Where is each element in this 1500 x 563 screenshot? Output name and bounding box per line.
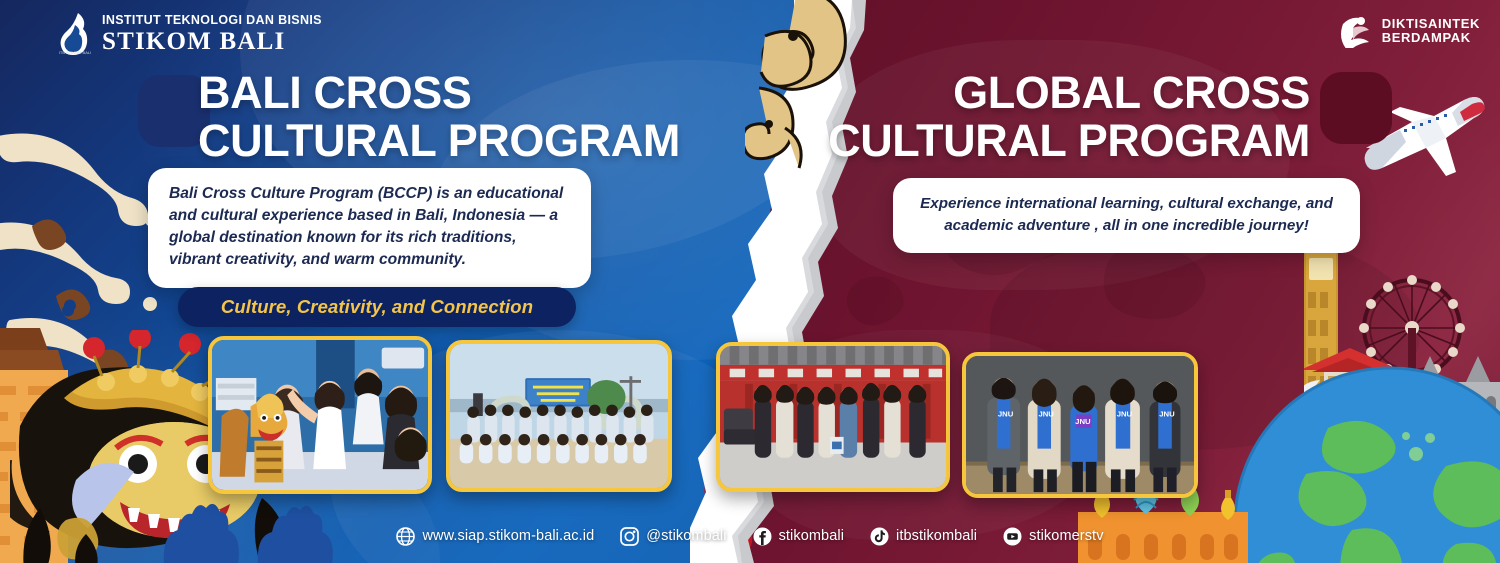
svg-text:JNU: JNU	[998, 410, 1014, 419]
stikom-bali-logo: ITB STIKOM BALI INSTITUT TEKNOLOGI DAN B…	[58, 12, 322, 56]
youtube-icon	[1003, 527, 1022, 546]
dikti-line2: BERDAMPAK	[1382, 31, 1480, 45]
social-links-bar: www.siap.stikom-bali.ac.id @stikombali s…	[0, 519, 1500, 553]
right-description-card: Experience international learning, cultu…	[893, 178, 1360, 253]
photo-beach-group	[446, 340, 672, 492]
left-headline: BALI CROSS CULTURAL PROGRAM	[198, 70, 680, 163]
right-headline-accent-dot	[1320, 72, 1392, 144]
svg-text:JNU: JNU	[1075, 417, 1091, 426]
svg-text:JNU: JNU	[1117, 410, 1133, 419]
left-description-card: Bali Cross Culture Program (BCCP) is an …	[148, 168, 591, 288]
social-item-youtube[interactable]: stikomerstv	[1003, 527, 1103, 546]
website-label: www.siap.stikom-bali.ac.id	[422, 528, 594, 544]
right-headline-line2: CULTURAL PROGRAM	[828, 118, 1310, 163]
right-headline: GLOBAL CROSS CULTURAL PROGRAM	[828, 70, 1310, 163]
diktisaintek-logo: DIKTISAINTEK BERDAMPAK	[1339, 14, 1480, 48]
flame-emblem-icon: ITB STIKOM BALI	[58, 12, 92, 56]
photo-jnu-students: JNUJNU JNUJNUJNU	[962, 352, 1198, 498]
globe-www-icon	[396, 527, 415, 546]
facebook-label: stikombali	[779, 528, 844, 544]
photo-barong-dance-class	[208, 336, 432, 494]
social-item-instagram[interactable]: @stikombali	[620, 527, 726, 546]
youtube-label: stikomerstv	[1029, 528, 1103, 544]
dikti-line1: DIKTISAINTEK	[1382, 17, 1480, 31]
tiktok-icon	[870, 527, 889, 546]
social-item-facebook[interactable]: stikombali	[753, 527, 844, 546]
svg-text:JNU: JNU	[1038, 410, 1054, 419]
institute-name-line1: INSTITUT TEKNOLOGI DAN BISNIS	[102, 14, 322, 27]
right-headline-line1: GLOBAL CROSS	[953, 67, 1310, 118]
instagram-icon	[620, 527, 639, 546]
instagram-label: @stikombali	[646, 528, 726, 544]
institute-name-line2: STIKOM BALI	[102, 29, 322, 54]
left-headline-line1: BALI CROSS	[198, 67, 472, 118]
left-headline-line2: CULTURAL PROGRAM	[198, 118, 680, 163]
promotional-banner: ITB STIKOM BALI INSTITUT TEKNOLOGI DAN B…	[0, 0, 1500, 563]
svg-text:JNU: JNU	[1159, 410, 1175, 419]
svg-text:ITB STIKOM BALI: ITB STIKOM BALI	[59, 50, 91, 55]
photo-temple-visit-group	[716, 342, 950, 492]
left-tagline-pill: Culture, Creativity, and Connection	[178, 287, 576, 327]
tiktok-label: itbstikombali	[896, 528, 977, 544]
diktisaintek-swoosh-icon	[1339, 14, 1373, 48]
social-item-website[interactable]: www.siap.stikom-bali.ac.id	[396, 527, 594, 546]
social-item-tiktok[interactable]: itbstikombali	[870, 527, 977, 546]
facebook-icon	[753, 527, 772, 546]
